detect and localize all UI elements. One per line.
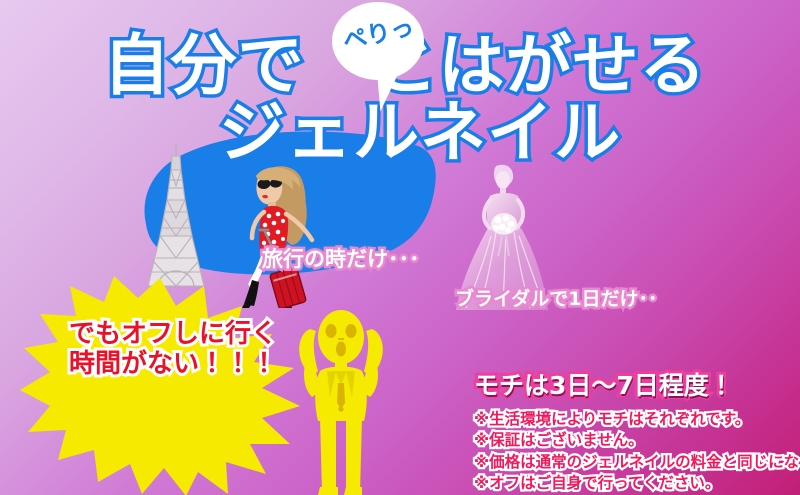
screaming-figure-illustration (292, 305, 390, 495)
info-notes-list: ※生活環境によりモチはそれぞれです。※保証はございません。※価格は通常のジェルネ… (474, 409, 794, 495)
promo-banner: 自分で とはがせる ジェルネイル ぺりっ 旅行の時だけ･･･ ブライダルで1日だ… (0, 0, 800, 495)
traveler-woman-illustration (218, 160, 338, 308)
info-headline: モチは3日〜7日程度！ (474, 366, 794, 402)
caption-bridal: ブライダルで1日だけ･･ (455, 284, 657, 311)
starburst-line-2: 時間がない！！！ (58, 350, 288, 380)
info-note-line: ※生活環境によりモチはそれぞれです。 (474, 409, 794, 430)
info-block: モチは3日〜7日程度！ ※生活環境によりモチはそれぞれです。※保証はございません… (474, 366, 794, 495)
speech-bubble: ぺりっ (332, 2, 424, 80)
info-note-line: ※オフはご自身で行ってください。 (474, 473, 794, 494)
info-note-line: ※価格は通常のジェルネイルの料金と同じになります。 (474, 452, 794, 473)
headline-line-2: ジェルネイル (0, 101, 800, 166)
info-note-line: ※保証はございません。 (474, 430, 794, 451)
starburst-message: でもオフしに行く 時間がない！！！ (58, 320, 288, 380)
caption-travel: 旅行の時だけ･･･ (262, 243, 420, 273)
starburst-line-1: でもオフしに行く (58, 320, 288, 350)
starburst-shape (18, 272, 308, 495)
